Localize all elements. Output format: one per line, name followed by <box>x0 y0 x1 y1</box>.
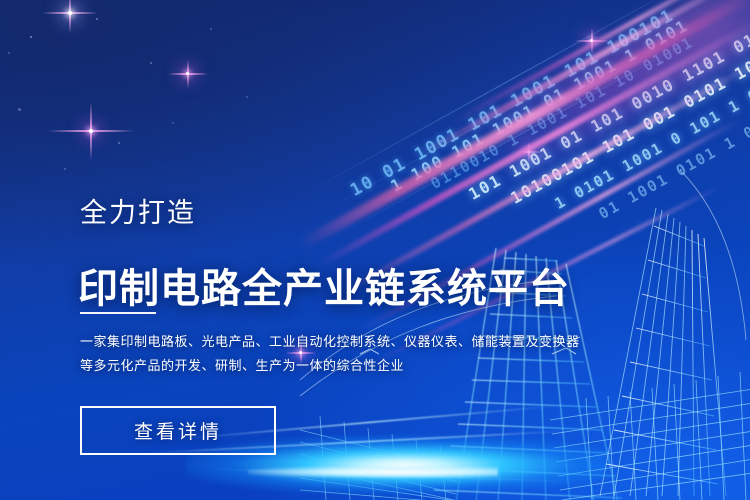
hero-eyebrow: 全力打造 <box>80 196 196 230</box>
view-details-button[interactable]: 查看详情 <box>80 406 276 455</box>
hero-description: 一家集印制电路板、光电产品、工业自动化控制系统、仪器仪表、储能装置及变换器 等多… <box>80 330 580 378</box>
hero-content: 全力打造 印制电路全产业链系统平台 一家集印制电路板、光电产品、工业自动化控制系… <box>80 0 700 500</box>
title-divider <box>80 312 156 314</box>
hero-description-line-1: 一家集印制电路板、光电产品、工业自动化控制系统、仪器仪表、储能装置及变换器 <box>80 330 580 354</box>
hero-banner: 10 01 1001 101 1001 101 100101 1 100 101… <box>0 0 750 500</box>
hero-description-line-2: 等多元化产品的开发、研制、生产为一体的综合性企业 <box>80 354 580 378</box>
page-title: 印制电路全产业链系统平台 <box>78 263 570 315</box>
